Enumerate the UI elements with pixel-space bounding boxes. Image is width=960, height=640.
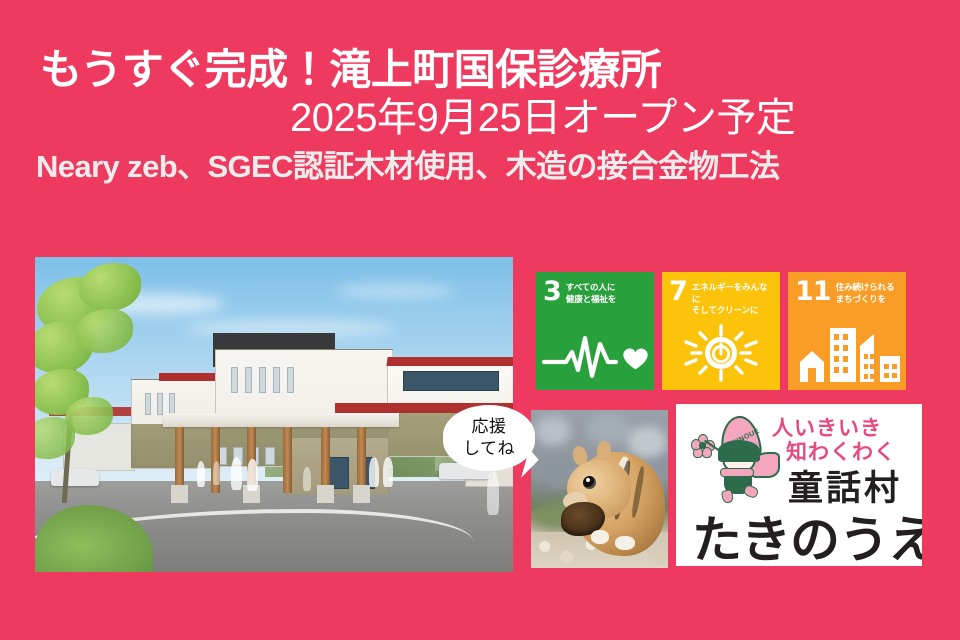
column-base bbox=[317, 485, 334, 503]
sdg-goal-3[interactable]: 3 すべての人に 健康と福祉を bbox=[536, 272, 654, 390]
roof-fascia bbox=[386, 357, 513, 366]
timber-column bbox=[175, 427, 184, 493]
cloud bbox=[335, 283, 455, 299]
mascot-eye bbox=[730, 458, 733, 462]
mascot-leg bbox=[742, 483, 759, 499]
speech-line-2: してね bbox=[463, 439, 515, 458]
background-bokeh bbox=[627, 426, 667, 458]
person-silhouette bbox=[247, 459, 258, 491]
window bbox=[245, 367, 252, 393]
sdg-label: 住み続けられる まちづくりを bbox=[836, 280, 895, 305]
takinoue-fairy-mascot: TAKINOUE bbox=[690, 414, 782, 502]
sdg-label-line-1: エネルギーをみんなに bbox=[692, 282, 768, 304]
city-buildings-icon bbox=[788, 322, 906, 384]
background-bokeh bbox=[535, 416, 571, 446]
sdg-label-line-2: そしてクリーンに bbox=[692, 305, 758, 315]
sdg-header: 3 すべての人に 健康と福祉を bbox=[543, 280, 647, 305]
window bbox=[231, 367, 238, 393]
parked-car bbox=[51, 469, 99, 486]
roof-fascia bbox=[159, 373, 221, 381]
person-silhouette bbox=[231, 457, 242, 490]
sun-power-icon bbox=[662, 322, 780, 384]
sdg-label-line-2: 健康と福祉を bbox=[566, 294, 616, 304]
takinoue-logo-panel[interactable]: TAKINOUE 人いきいき 知わくわく 童話村 たきのうえ bbox=[676, 404, 922, 566]
spec-subtitle: Neary zeb、SGEC認証木材使用、木造の接合金物工法 bbox=[0, 148, 960, 185]
sdg-header: 11 住み続けられる まちづくりを bbox=[795, 280, 899, 305]
column-base bbox=[353, 485, 370, 503]
headline-block: もうすぐ完成！滝上町国保診療所 2025年9月25日オープン予定 Neary z… bbox=[0, 46, 960, 185]
person-silhouette bbox=[369, 457, 379, 487]
sdg-number: 3 bbox=[543, 280, 561, 304]
sdg-label-line-2: まちづくりを bbox=[836, 294, 886, 304]
window bbox=[145, 393, 151, 415]
chipmunk-paw bbox=[591, 530, 609, 544]
page-title: もうすぐ完成！滝上町国保診療所 bbox=[0, 46, 960, 93]
entrance-canopy bbox=[163, 413, 399, 427]
heartbeat-icon bbox=[536, 322, 654, 384]
sdg-label: エネルギーをみんなに そしてクリーンに bbox=[692, 280, 773, 317]
window bbox=[265, 447, 275, 465]
person-silhouette bbox=[487, 471, 499, 515]
timber-column bbox=[321, 427, 330, 493]
chipmunk-photo bbox=[531, 410, 668, 568]
window bbox=[403, 371, 499, 391]
sdg-header: 7 エネルギーをみんなに そしてクリーンに bbox=[669, 280, 773, 317]
sdg-icon-row: 3 すべての人に 健康と福祉を 7 エネルギーをみんなに そしてクリーンに bbox=[536, 272, 906, 390]
flower-core bbox=[699, 442, 706, 449]
window bbox=[169, 393, 175, 415]
sdg-number: 7 bbox=[669, 280, 687, 304]
window bbox=[259, 367, 266, 393]
sdg-label-line-1: 住み続けられる bbox=[836, 282, 895, 292]
opening-date-title: 2025年9月25日オープン予定 bbox=[0, 95, 960, 142]
sdg-label-line-1: すべての人に bbox=[566, 282, 615, 292]
background-bokeh bbox=[585, 412, 631, 446]
sdg-label: すべての人に 健康と福祉を bbox=[566, 280, 616, 305]
window bbox=[157, 393, 163, 415]
person-silhouette bbox=[303, 467, 311, 491]
window bbox=[287, 367, 294, 393]
window bbox=[273, 367, 280, 393]
clinic-render-photo bbox=[35, 257, 513, 572]
mascot-eye bbox=[744, 458, 747, 462]
person-silhouette bbox=[383, 457, 393, 487]
logo-kana-title: たきのうえ bbox=[692, 500, 922, 566]
sdg-goal-7[interactable]: 7 エネルギーをみんなに そしてクリーンに bbox=[662, 272, 780, 390]
person-silhouette bbox=[197, 461, 205, 487]
speech-balloon: 応援 してね bbox=[443, 405, 535, 471]
mascot-hair bbox=[718, 440, 760, 462]
chipmunk-eye bbox=[583, 476, 596, 489]
poster-root: もうすぐ完成！滝上町国保診療所 2025年9月25日オープン予定 Neary z… bbox=[0, 0, 960, 640]
speech-balloon-text: 応援 してね bbox=[463, 416, 515, 460]
chipmunk-paw bbox=[615, 536, 635, 550]
person-silhouette bbox=[213, 461, 220, 485]
timber-column bbox=[357, 427, 366, 493]
timber-column bbox=[283, 427, 292, 493]
sdg-number: 11 bbox=[795, 280, 831, 304]
speech-line-1: 応援 bbox=[472, 417, 507, 436]
column-base bbox=[171, 485, 188, 503]
mascot-scarf bbox=[720, 468, 754, 477]
sdg-goal-11[interactable]: 11 住み続けられる まちづくりを bbox=[788, 272, 906, 390]
